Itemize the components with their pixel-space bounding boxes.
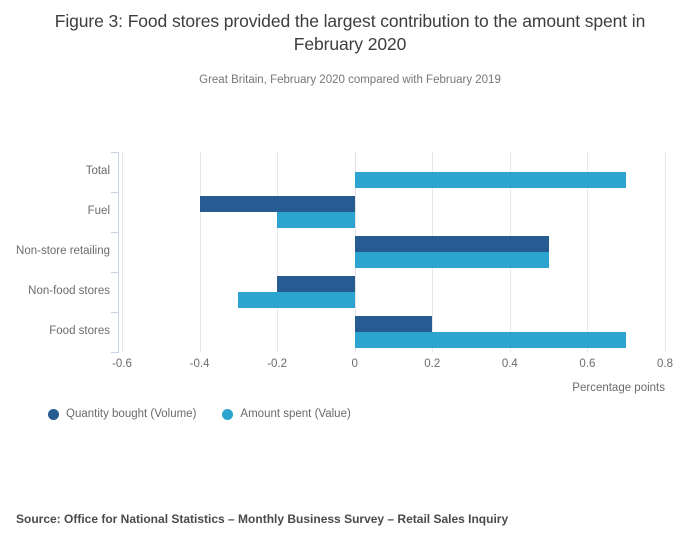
- legend-swatch-icon: [222, 409, 233, 420]
- legend-item-volume[interactable]: Quantity bought (Volume): [48, 408, 196, 420]
- y-tick-0: [111, 152, 119, 153]
- bar-fuel-volume: [200, 196, 355, 212]
- category-label-food-stores: Food stores: [6, 325, 110, 337]
- x-tick-label-5: 0.4: [502, 358, 518, 370]
- x-tick-label-3: 0: [352, 358, 358, 370]
- category-label-non-food-stores: Non-food stores: [6, 285, 110, 297]
- y-axis-category-labels: TotalFuelNon-store retailingNon-food sto…: [0, 152, 110, 352]
- gridline-x-0: [122, 152, 123, 352]
- gridline-x-7: [665, 152, 666, 352]
- gridline-x-1: [200, 152, 201, 352]
- x-axis-title: Percentage points: [572, 382, 665, 394]
- x-tick-label-0: -0.6: [112, 358, 132, 370]
- x-tick-label-1: -0.4: [190, 358, 210, 370]
- y-axis-spine: [118, 152, 119, 352]
- bar-food-stores-volume: [355, 316, 433, 332]
- legend-item-value[interactable]: Amount spent (Value): [222, 408, 350, 420]
- category-label-non-store-retailing: Non-store retailing: [6, 245, 110, 257]
- legend-label: Amount spent (Value): [240, 408, 350, 420]
- legend-label: Quantity bought (Volume): [66, 408, 196, 420]
- y-tick-1: [111, 192, 119, 193]
- chart-header: Figure 3: Food stores provided the large…: [0, 0, 700, 88]
- legend-swatch-icon: [48, 409, 59, 420]
- bar-non-store-retailing-value: [355, 252, 549, 268]
- plot-area: [122, 152, 665, 352]
- chart-legend: Quantity bought (Volume)Amount spent (Va…: [48, 408, 351, 420]
- x-tick-label-7: 0.8: [657, 358, 673, 370]
- y-tick-2: [111, 232, 119, 233]
- source-note: Source: Office for National Statistics –…: [16, 512, 508, 526]
- chart-subtitle: Great Britain, February 2020 compared wi…: [28, 72, 672, 88]
- category-label-fuel: Fuel: [6, 205, 110, 217]
- bar-non-store-retailing-volume: [355, 236, 549, 252]
- bar-total-value: [355, 172, 627, 188]
- bar-non-food-stores-volume: [277, 276, 355, 292]
- bar-fuel-value: [277, 212, 355, 228]
- category-label-total: Total: [6, 165, 110, 177]
- x-tick-label-2: -0.2: [267, 358, 287, 370]
- gridline-x-2: [277, 152, 278, 352]
- x-tick-label-4: 0.2: [424, 358, 440, 370]
- bar-food-stores-value: [355, 332, 627, 348]
- x-tick-label-6: 0.6: [579, 358, 595, 370]
- y-tick-5: [111, 352, 119, 353]
- bar-non-food-stores-value: [238, 292, 354, 308]
- y-tick-4: [111, 312, 119, 313]
- y-tick-3: [111, 272, 119, 273]
- page-title: Figure 3: Food stores provided the large…: [28, 10, 672, 56]
